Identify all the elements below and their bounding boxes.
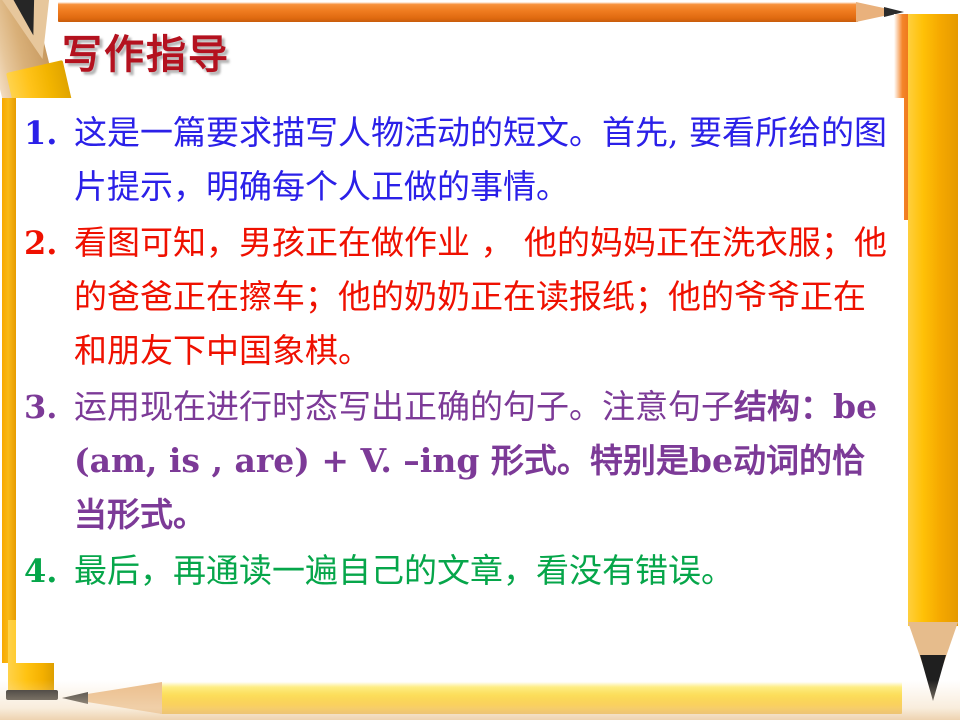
list-item-number: 2. [16, 216, 74, 270]
list-item-line: 运用现在进行时态写出正确的句子。注意句子 [74, 387, 734, 426]
list-item-number: 1. [16, 106, 74, 160]
page-title: 写作指导 [62, 22, 230, 80]
list-item-number: 4. [16, 544, 74, 598]
left-border-stripe [2, 98, 16, 663]
bottom-gradient-wash [0, 680, 960, 720]
slide-canvas: 写作指导 1. 这是一篇要求描写人物活动的短文。首先, 要看所给的图片提示，明确… [0, 0, 960, 720]
instruction-list: 1. 这是一篇要求描写人物活动的短文。首先, 要看所给的图片提示，明确每个人正做… [16, 106, 904, 600]
list-item-line: 看图可知，男孩正在做作业 ， 他的妈妈正在 [74, 223, 722, 262]
list-item: 3. 运用现在进行时态写出正确的句子。注意句子结构：be (am, is , a… [16, 380, 904, 542]
content-card: 1. 这是一篇要求描写人物活动的短文。首先, 要看所给的图片提示，明确每个人正做… [16, 98, 904, 663]
list-item-line: 这是一篇要求描写人物活动的短文。首先, 要 [74, 113, 722, 152]
pencil-top-icon [58, 2, 858, 22]
list-item-number: 3. [16, 380, 74, 434]
list-item-text: 看图可知，男孩正在做作业 ， 他的妈妈正在洗衣服；他的爸爸正在擦车；他的奶奶正在… [74, 216, 904, 378]
right-border-stripe [908, 14, 958, 626]
list-item: 4. 最后，再通读一遍自己的文章，看没有错误。 [16, 544, 904, 598]
list-item-text: 最后，再通读一遍自己的文章，看没有错误。 [74, 544, 904, 598]
list-item-text: 这是一篇要求描写人物活动的短文。首先, 要看所给的图片提示，明确每个人正做的事情… [74, 106, 904, 214]
list-item: 1. 这是一篇要求描写人物活动的短文。首先, 要看所给的图片提示，明确每个人正做… [16, 106, 904, 214]
list-item-text: 运用现在进行时态写出正确的句子。注意句子结构：be (am, is , are)… [74, 380, 904, 542]
list-item: 2. 看图可知，男孩正在做作业 ， 他的妈妈正在洗衣服；他的爸爸正在擦车；他的奶… [16, 216, 904, 378]
list-item-line: 最后，再通读一遍自己的文章，看没有错误。 [74, 551, 734, 590]
